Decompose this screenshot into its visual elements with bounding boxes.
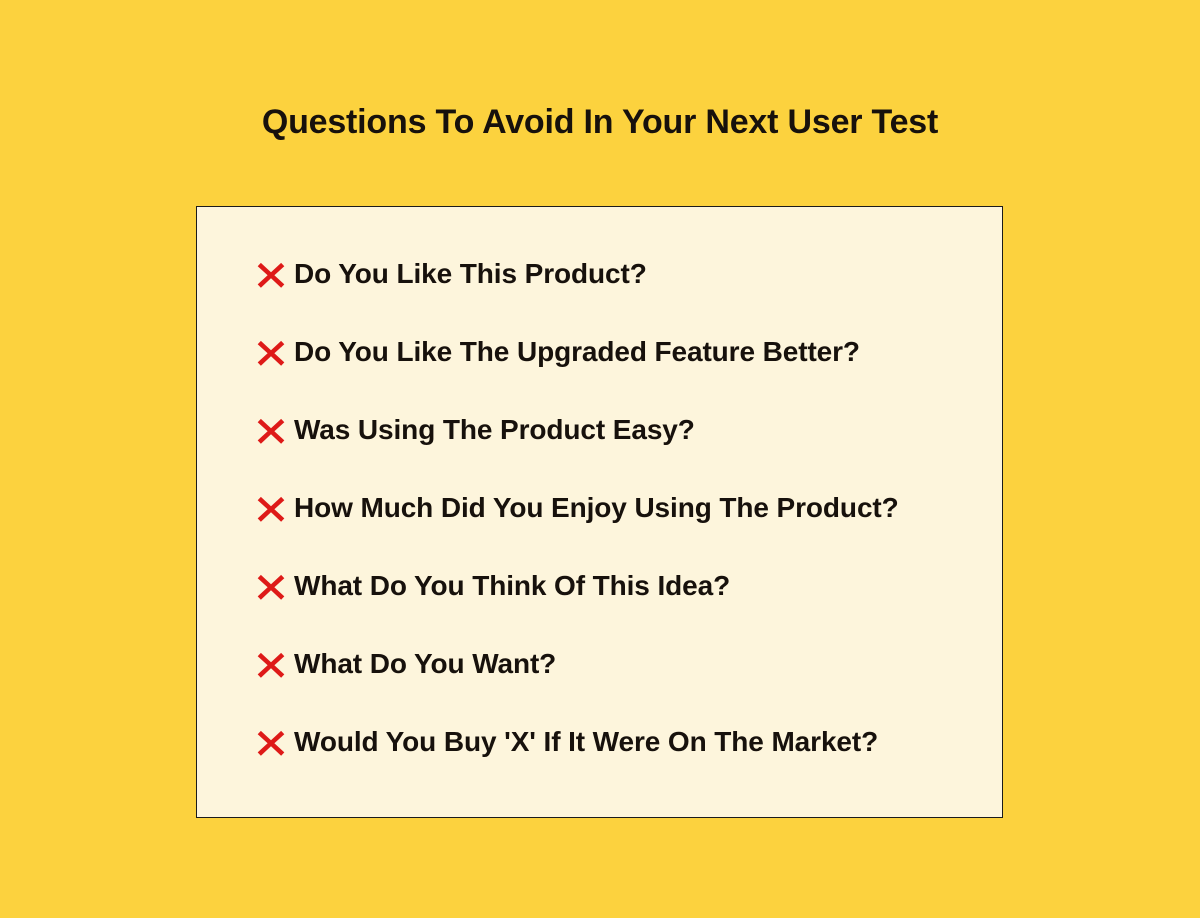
list-item: Would You Buy 'X' If It Were On The Mark… — [256, 720, 1002, 764]
slide-canvas: Questions To Avoid In Your Next User Tes… — [0, 0, 1200, 918]
list-item: Was Using The Product Easy? — [256, 408, 1002, 452]
list-item: What Do You Want? — [256, 642, 1002, 686]
red-x-cross-icon — [256, 494, 286, 524]
question-text: What Do You Want? — [294, 647, 556, 681]
list-item: How Much Did You Enjoy Using The Product… — [256, 486, 1002, 530]
red-x-cross-icon — [256, 572, 286, 602]
red-x-cross-icon — [256, 650, 286, 680]
page-title: Questions To Avoid In Your Next User Tes… — [0, 99, 1200, 145]
list-item: What Do You Think Of This Idea? — [256, 564, 1002, 608]
red-x-cross-icon — [256, 338, 286, 368]
questions-list: Do You Like This Product? Do You Like Th… — [197, 207, 1002, 817]
red-x-cross-icon — [256, 260, 286, 290]
list-item: Do You Like The Upgraded Feature Better? — [256, 330, 1002, 374]
question-text: Was Using The Product Easy? — [294, 413, 695, 447]
questions-card: Do You Like This Product? Do You Like Th… — [196, 206, 1003, 818]
red-x-cross-icon — [256, 728, 286, 758]
question-text: Do You Like This Product? — [294, 257, 647, 291]
red-x-cross-icon — [256, 416, 286, 446]
question-text: What Do You Think Of This Idea? — [294, 569, 730, 603]
question-text: Do You Like The Upgraded Feature Better? — [294, 335, 860, 369]
question-text: How Much Did You Enjoy Using The Product… — [294, 491, 899, 525]
list-item: Do You Like This Product? — [256, 252, 1002, 296]
question-text: Would You Buy 'X' If It Were On The Mark… — [294, 725, 878, 759]
